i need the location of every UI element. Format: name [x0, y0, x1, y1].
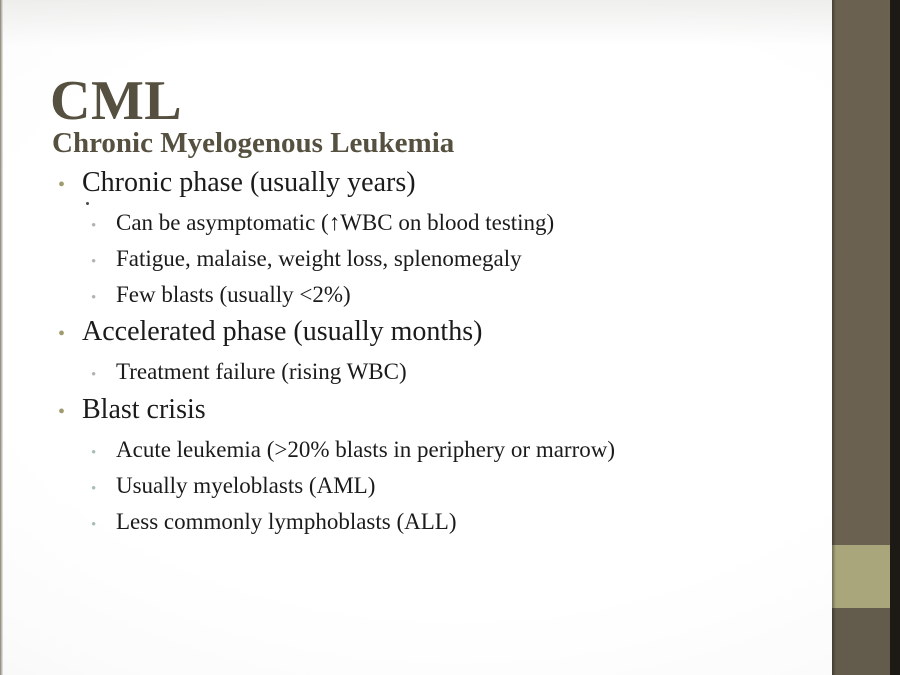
bullet-item-level1: •Chronic phase (usually years) [58, 163, 798, 203]
bullet-text: Can be asymptomatic (↑WBC on blood testi… [116, 205, 554, 241]
bullet-marker-icon: • [58, 324, 82, 344]
bullet-marker-icon: • [58, 402, 82, 422]
sidebar-block-brown-top [832, 0, 890, 545]
bullet-text: Chronic phase (usually years) [82, 163, 416, 203]
slide-top-tint [0, 0, 832, 46]
bullet-text: Less commonly lymphoblasts (ALL) [116, 504, 457, 540]
sidebar-edge-dark [890, 0, 900, 675]
bullet-text: Few blasts (usually <2%) [116, 277, 351, 313]
bullet-marker-icon: • [91, 291, 116, 306]
bullet-text: Fatigue, malaise, weight loss, splenomeg… [116, 241, 522, 277]
bullet-marker-icon: • [91, 482, 116, 497]
bullet-marker-icon: • [91, 255, 116, 270]
bullet-text: Blast crisis [82, 390, 206, 430]
bullet-text: Usually myeloblasts (AML) [116, 468, 375, 504]
presentation-slide: CML Chronic Myelogenous Leukemia •Chroni… [0, 0, 900, 675]
bullet-marker-icon: • [58, 175, 82, 195]
sidebar-inner-shadow [832, 0, 836, 675]
bullet-marker-icon: • [91, 446, 116, 461]
bullet-text: Treatment failure (rising WBC) [116, 354, 407, 390]
bullet-item-level2: •Less commonly lymphoblasts (ALL) [91, 504, 798, 540]
bullet-marker-icon: • [91, 518, 116, 533]
bullet-item-level2: •Fatigue, malaise, weight loss, splenome… [91, 241, 798, 277]
bullet-item-level1: •Blast crisis [58, 390, 798, 430]
slide-title: CML [50, 72, 182, 131]
bullet-marker-icon: • [91, 219, 116, 234]
bullet-item-level2: •Acute leukemia (>20% blasts in peripher… [91, 432, 798, 468]
bullet-item-level2: •Treatment failure (rising WBC) [91, 354, 798, 390]
slide-left-edge [0, 0, 3, 675]
bullet-item-level2: •Few blasts (usually <2%) [91, 277, 798, 313]
slide-sidebar-decoration [832, 0, 900, 675]
slide-bullet-list: •Chronic phase (usually years)•Can be as… [58, 163, 798, 539]
bullet-text: Acute leukemia (>20% blasts in periphery… [116, 432, 615, 468]
bullet-item-level2: •Usually myeloblasts (AML) [91, 468, 798, 504]
bullet-text: Accelerated phase (usually months) [82, 312, 482, 352]
slide-subtitle: Chronic Myelogenous Leukemia [52, 128, 454, 160]
sidebar-block-brown-bottom [832, 608, 890, 675]
bullet-item-level2: •Can be asymptomatic (↑WBC on blood test… [91, 205, 798, 241]
bullet-marker-icon: • [91, 368, 116, 383]
bullet-item-level1: •Accelerated phase (usually months) [58, 312, 798, 352]
sidebar-block-khaki [832, 545, 890, 608]
scan-speck-artifact [86, 202, 89, 205]
